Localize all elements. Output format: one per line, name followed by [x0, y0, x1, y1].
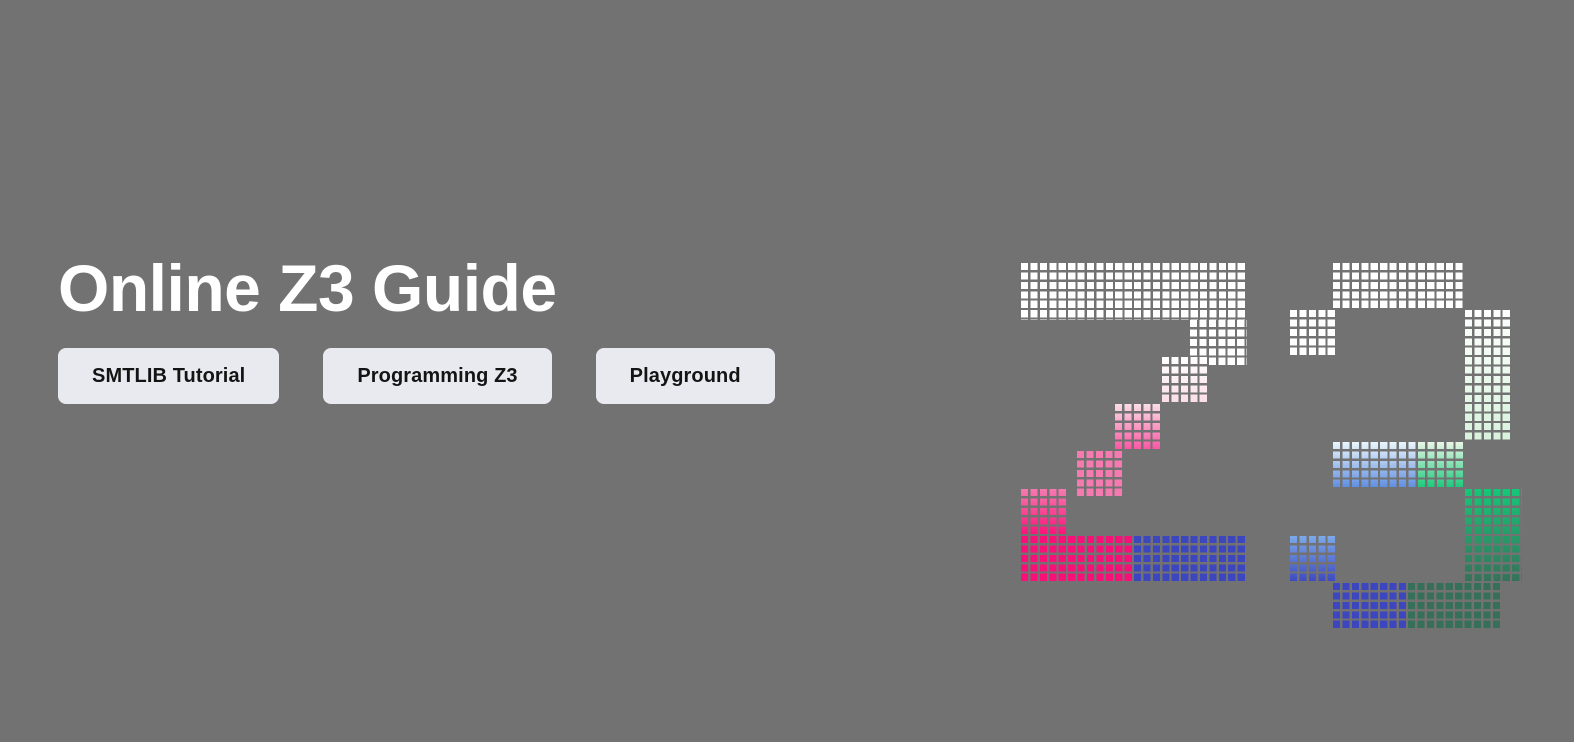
three-top-bar-fill [1333, 263, 1465, 310]
z3-pixel-logo [1021, 263, 1521, 583]
seven-bottom-left-pink-fill [1021, 536, 1134, 583]
seven-step-2-fill [1115, 404, 1162, 451]
smtlib-tutorial-button[interactable]: SMTLIB Tutorial [58, 348, 279, 404]
hero-text-column: Online Z3 Guide SMTLIB Tutorial Programm… [58, 255, 958, 404]
three-bottom-bar-blue-fill [1333, 583, 1408, 630]
hero-section: Online Z3 Guide SMTLIB Tutorial Programm… [0, 0, 1574, 742]
seven-step-4 [1021, 489, 1068, 536]
seven-bottom-right-blue [1134, 536, 1247, 583]
three-upper-left-stub-fill [1290, 310, 1337, 357]
three-lower-right-stem [1465, 489, 1522, 583]
three-middle-bar-blue-fill [1333, 442, 1418, 489]
three-upper-right-stem-fill [1465, 310, 1512, 442]
seven-step-4-fill [1021, 489, 1068, 536]
programming-z3-button[interactable]: Programming Z3 [323, 348, 551, 404]
seven-top-bar-fill [1021, 263, 1247, 320]
three-lower-left-stub [1290, 536, 1337, 583]
three-lower-left-stub-fill [1290, 536, 1337, 583]
three-middle-bar-blue [1333, 442, 1418, 489]
three-upper-right-stem [1465, 310, 1512, 442]
seven-step-3-fill [1077, 451, 1124, 498]
seven-bottom-right-blue-fill [1134, 536, 1247, 583]
nav-button-group: SMTLIB Tutorial Programming Z3 Playgroun… [58, 348, 958, 404]
seven-top-bar [1021, 263, 1247, 320]
seven-step-1 [1162, 357, 1209, 404]
three-bottom-bar-green-fill [1408, 583, 1502, 630]
three-upper-left-stub [1290, 310, 1337, 357]
three-bottom-bar-blue [1333, 583, 1408, 630]
seven-step-2 [1115, 404, 1162, 451]
seven-step-3 [1077, 451, 1124, 498]
page-title: Online Z3 Guide [58, 255, 958, 322]
playground-button[interactable]: Playground [596, 348, 775, 404]
three-bottom-bar-green [1408, 583, 1502, 630]
three-middle-bar-green-fill [1418, 442, 1465, 489]
three-top-bar [1333, 263, 1465, 310]
seven-step-1-fill [1162, 357, 1209, 404]
seven-bottom-left-pink [1021, 536, 1134, 583]
three-middle-bar-green [1418, 442, 1465, 489]
three-lower-right-stem-fill [1465, 489, 1522, 583]
